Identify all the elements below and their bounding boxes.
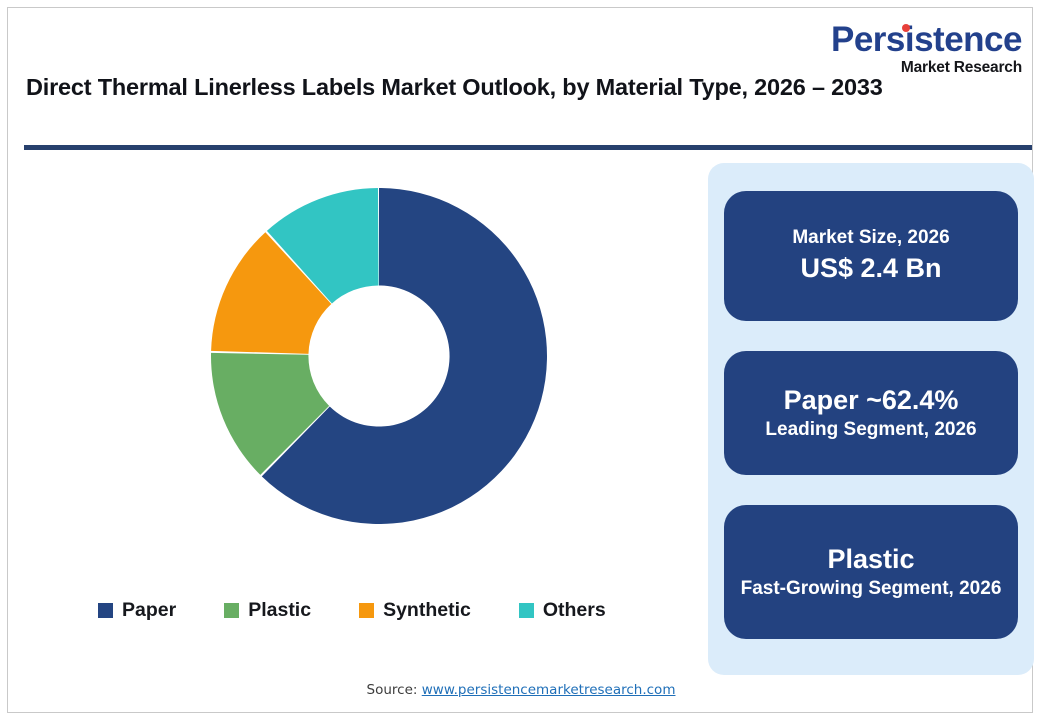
- legend-label: Synthetic: [383, 599, 471, 622]
- legend-label: Plastic: [248, 599, 311, 622]
- legend-swatch-icon: [359, 603, 374, 618]
- chart-legend: PaperPlasticSyntheticOthers: [22, 590, 682, 630]
- stat-card-0: Market Size, 2026US$ 2.4 Bn: [724, 191, 1018, 321]
- donut-slice-group: [211, 188, 547, 524]
- stat-card-1-line1: Paper ~62.4%: [784, 383, 959, 418]
- brand-logo-wordmark: Persistence: [802, 22, 1022, 57]
- donut-chart: [22, 158, 682, 638]
- legend-item-synthetic[interactable]: Synthetic: [359, 599, 471, 622]
- stat-panel: Market Size, 2026US$ 2.4 BnPaper ~62.4%L…: [708, 163, 1034, 675]
- legend-swatch-icon: [98, 603, 113, 618]
- legend-item-others[interactable]: Others: [519, 599, 606, 622]
- legend-label: Paper: [122, 599, 176, 622]
- stat-card-1: Paper ~62.4%Leading Segment, 2026: [724, 351, 1018, 475]
- header-divider: [24, 145, 1032, 150]
- source-link[interactable]: www.persistencemarketresearch.com: [422, 682, 676, 698]
- stat-card-2-line2: Fast-Growing Segment, 2026: [741, 577, 1002, 602]
- legend-item-paper[interactable]: Paper: [98, 599, 176, 622]
- stat-card-1-line2: Leading Segment, 2026: [765, 418, 976, 443]
- stat-card-0-line2: US$ 2.4 Bn: [800, 251, 941, 286]
- legend-swatch-icon: [519, 603, 534, 618]
- legend-label: Others: [543, 599, 606, 622]
- source-label: Source:: [367, 682, 422, 698]
- legend-item-plastic[interactable]: Plastic: [224, 599, 311, 622]
- stat-card-0-line1: Market Size, 2026: [792, 226, 949, 251]
- brand-logo: Persistence Market Research: [802, 22, 1022, 76]
- donut-chart-svg: [22, 158, 682, 638]
- page-title: Direct Thermal Linerless Labels Market O…: [26, 72, 926, 103]
- infographic-frame: Persistence Market Research Direct Therm…: [7, 7, 1033, 713]
- brand-logo-dot-icon: [902, 24, 910, 32]
- stat-card-2-line1: Plastic: [827, 542, 914, 577]
- legend-swatch-icon: [224, 603, 239, 618]
- source-footer: Source: www.persistencemarketresearch.co…: [8, 682, 1034, 698]
- stat-card-2: PlasticFast-Growing Segment, 2026: [724, 505, 1018, 639]
